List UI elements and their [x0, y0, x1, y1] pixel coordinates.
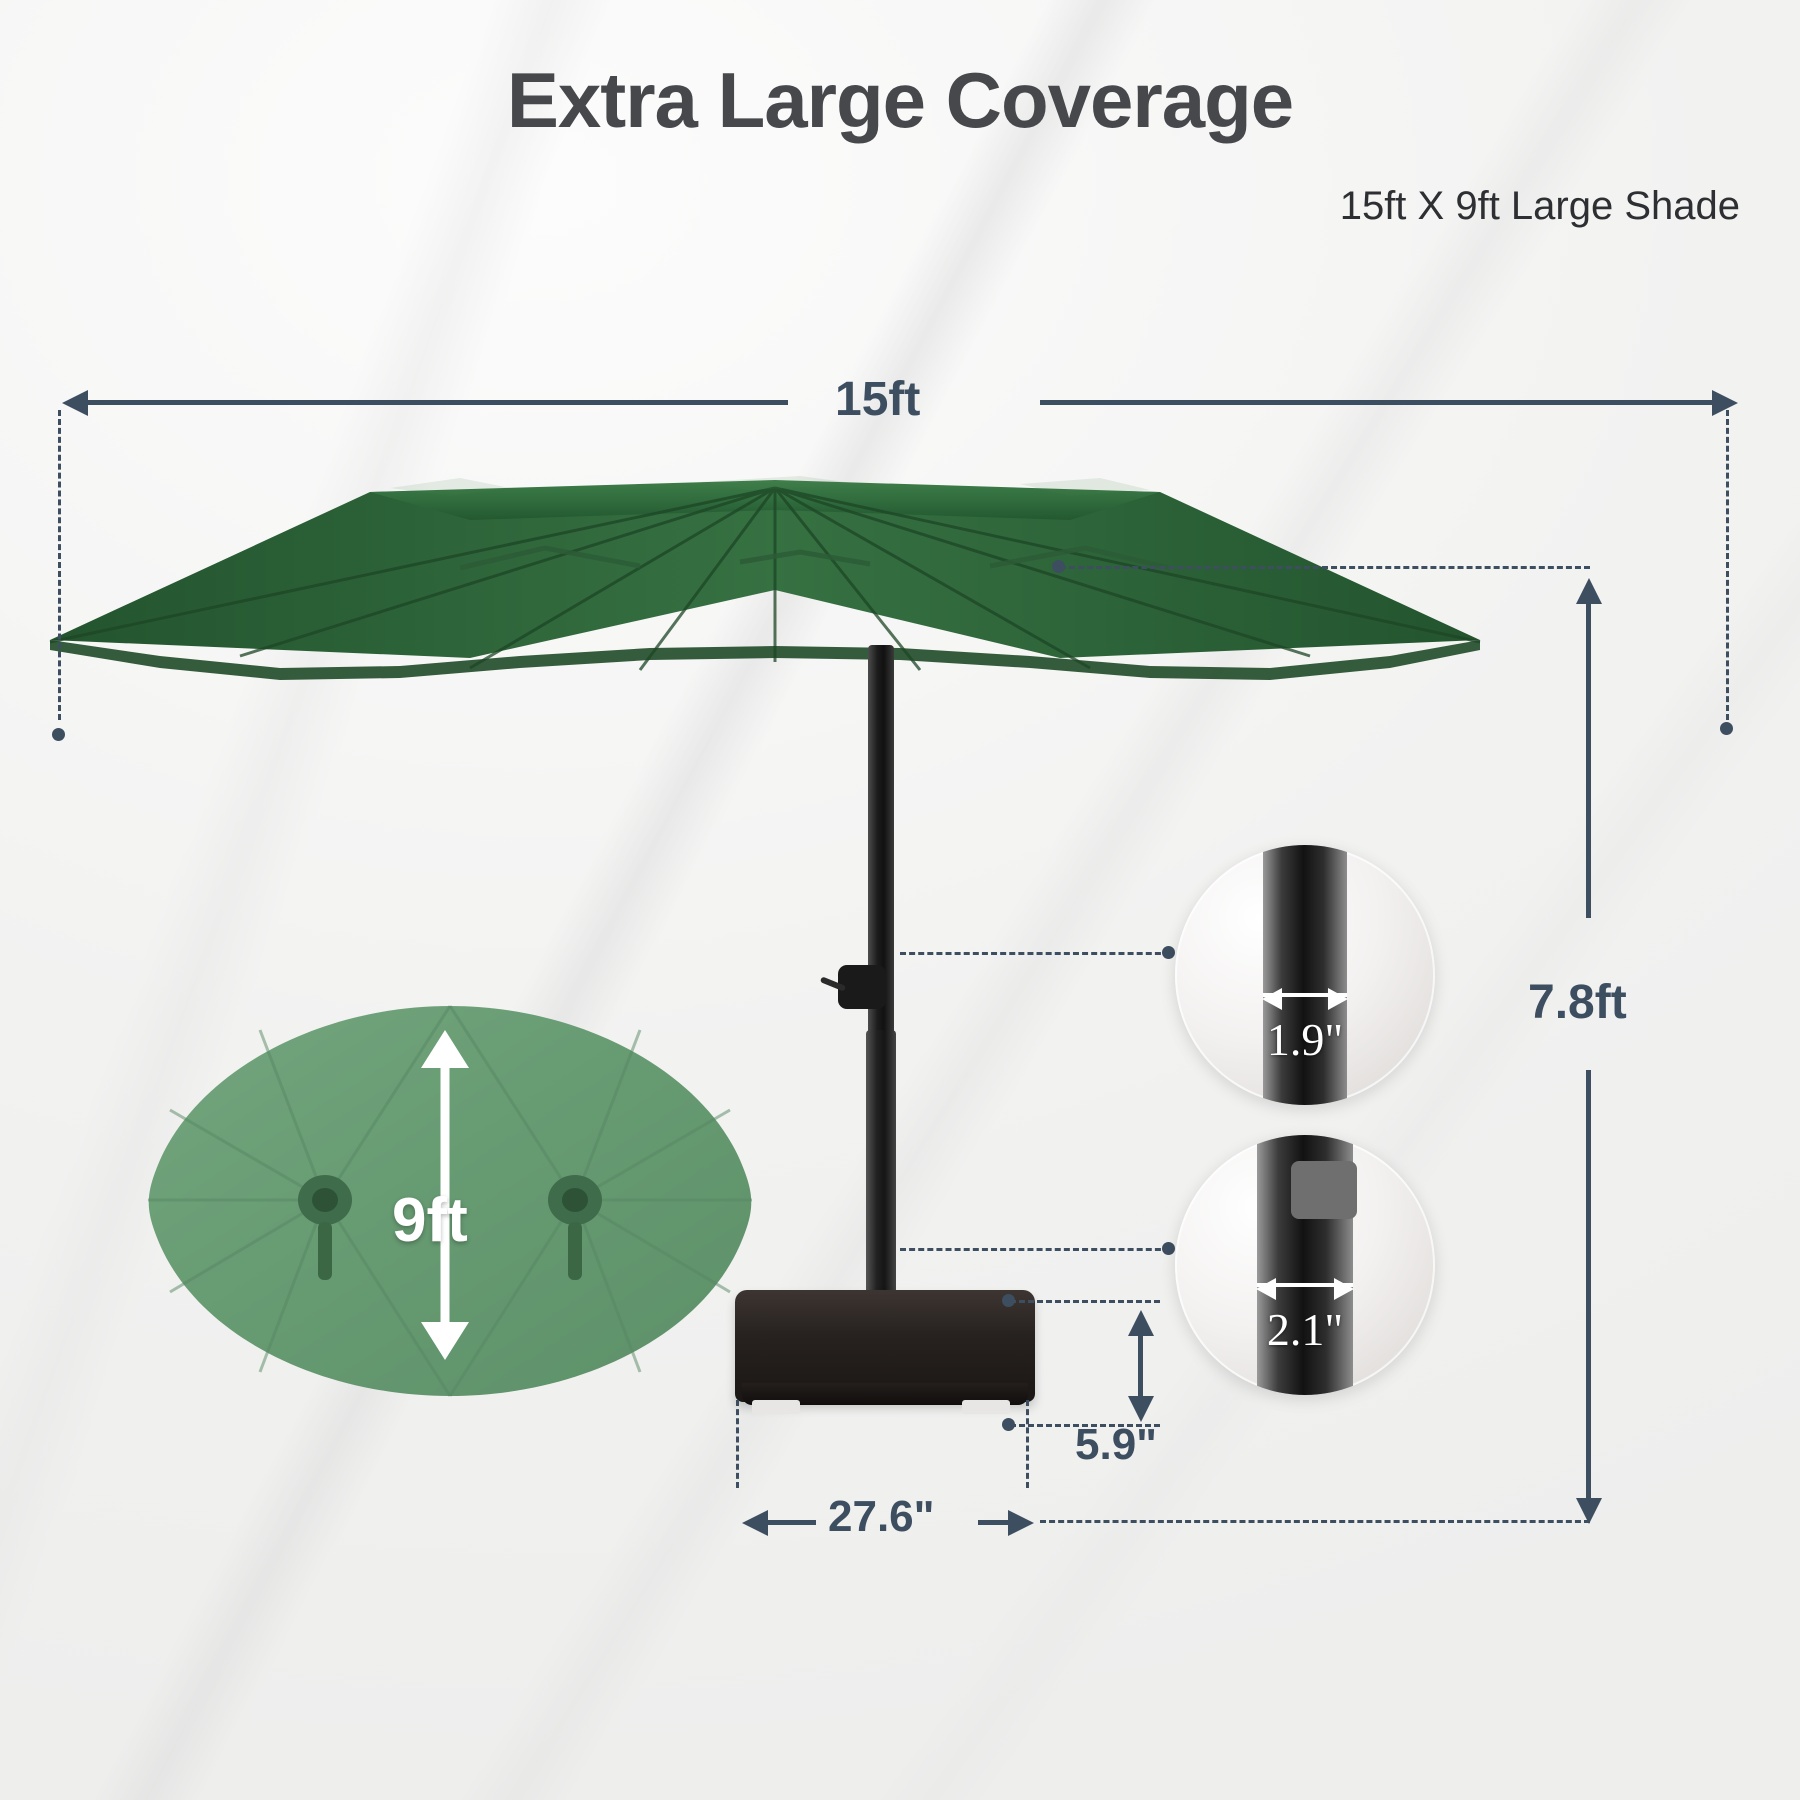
width-line-left	[88, 400, 788, 405]
base-width-line-left	[768, 1520, 816, 1525]
width-dot-right	[1720, 722, 1733, 735]
height-line-upper	[1586, 600, 1591, 918]
main-umbrella-canopy	[40, 470, 1490, 690]
pole-lower-leader	[900, 1248, 1170, 1251]
height-leader-top	[1060, 566, 1590, 569]
base-width-label: 27.6"	[828, 1492, 935, 1542]
width-arrow-left	[62, 390, 88, 416]
umbrella-pole-lower	[866, 1030, 896, 1320]
height-label: 7.8ft	[1528, 975, 1627, 1030]
width-dot-left	[52, 728, 65, 741]
crank-handle	[838, 965, 886, 1009]
page-title: Extra Large Coverage	[0, 55, 1800, 146]
pole-lower-measure-arrow	[1257, 1283, 1353, 1287]
base-height-line	[1138, 1332, 1143, 1400]
pole-upper-leader	[900, 952, 1170, 955]
bubble-pole-upper	[1263, 845, 1347, 1105]
base-width-arrow-right	[1008, 1510, 1034, 1536]
pole-upper-measure-arrow	[1263, 993, 1347, 997]
height-leader-bottom	[1040, 1520, 1590, 1523]
base-height-label: 5.9"	[1075, 1420, 1157, 1470]
width-label: 15ft	[835, 372, 920, 427]
pole-upper-leader-dot	[1162, 946, 1175, 959]
base-width-arrow-left	[742, 1510, 768, 1536]
infographic-canvas: Extra Large Coverage 15ft X 9ft Large Sh…	[0, 0, 1800, 1800]
base-width-extension-left	[736, 1400, 739, 1488]
depth-label: 9ft	[392, 1185, 468, 1256]
width-extension-left	[58, 410, 61, 720]
width-extension-right	[1726, 410, 1729, 720]
pole-lower-leader-dot	[1162, 1242, 1175, 1255]
base-bottom-dot	[1002, 1418, 1015, 1431]
base-width-line-right	[978, 1520, 1010, 1525]
base-width-extension-right	[1026, 1400, 1029, 1488]
pole-joint-detail	[1291, 1161, 1357, 1219]
base-top-leader	[1010, 1300, 1160, 1303]
base-foot-right	[962, 1400, 1010, 1414]
page-subtitle: 15ft X 9ft Large Shade	[0, 184, 1740, 229]
base-top-dot	[1002, 1294, 1015, 1307]
pole-upper-diameter-label: 1.9"	[1175, 1013, 1435, 1066]
width-arrow-right	[1712, 390, 1738, 416]
base-foot-left	[752, 1400, 800, 1414]
magnifier-bubble-lower: 2.1"	[1175, 1135, 1435, 1395]
base-height-arrow-bottom	[1128, 1396, 1154, 1422]
magnifier-bubble-upper: 1.9"	[1175, 845, 1435, 1105]
width-line-right	[1040, 400, 1724, 405]
pole-lower-diameter-label: 2.1"	[1175, 1303, 1435, 1356]
height-dot-top	[1052, 560, 1065, 573]
height-line-lower	[1586, 1070, 1591, 1498]
